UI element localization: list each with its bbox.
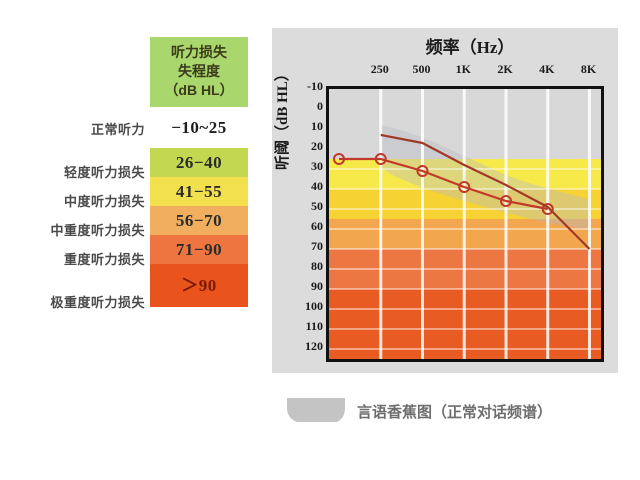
y-tick-100: 100 [305, 300, 323, 312]
infographic-root: 正常听力 轻度听力损失 中度听力损失 中重度听力损失 重度听力损失 极重度听力损… [0, 0, 640, 480]
header-line-3: （dB HL） [150, 81, 248, 100]
y-tick-20: 20 [311, 140, 323, 152]
plot-inner [329, 89, 601, 359]
y-tick-40: 40 [311, 180, 323, 192]
x-tick-2K: 2K [497, 62, 512, 77]
audiogram-curves [329, 89, 601, 359]
severity-label-column: 正常听力 轻度听力损失 中度听力损失 中重度听力损失 重度听力损失 极重度听力损… [0, 115, 145, 317]
y-tick-10: 10 [311, 120, 323, 132]
x-tick-4K: 4K [539, 62, 554, 77]
x-tick-500: 500 [412, 62, 430, 77]
chart-x-axis-title: 频率（Hz） [330, 33, 610, 58]
severity-range-normal: −10~25 [150, 107, 248, 148]
audiogram-plot [326, 86, 604, 362]
severity-range-mild: 26−40 [150, 148, 248, 177]
y-tick-80: 80 [311, 260, 323, 272]
chart-x-axis-ticks: 2505001K2K4K8K [325, 62, 605, 78]
y-tick-110: 110 [306, 320, 323, 332]
severity-label-normal: 正常听力 [0, 115, 145, 144]
severity-table-header: 听力损失 失程度 （dB HL） [150, 37, 248, 107]
severity-range-table: 听力损失 失程度 （dB HL） −10~25 26−40 41−55 56−7… [150, 37, 248, 307]
caption-text: 言语香蕉图（正常对话频谱） [357, 401, 552, 422]
caption: 言语香蕉图（正常对话频谱） [285, 396, 552, 426]
y-tick-90: 90 [311, 280, 323, 292]
y-tick-50: 50 [311, 200, 323, 212]
severity-label-moderately-severe: 中重度听力损失 [0, 216, 145, 245]
header-line-1: 听力损失 [150, 43, 248, 62]
y-tick--10: -10 [307, 80, 323, 92]
x-tick-250: 250 [371, 62, 389, 77]
y-tick-70: 70 [311, 240, 323, 252]
speech-banana-swatch-icon [285, 396, 347, 426]
severity-label-moderate: 中度听力损失 [0, 187, 145, 216]
y-tick-60: 60 [311, 220, 323, 232]
severity-range-moderately-severe: 56−70 [150, 206, 248, 235]
severity-range-severe: 71−90 [150, 235, 248, 264]
y-tick-30: 30 [311, 160, 323, 172]
chart-y-axis-ticks: -100102030405060708090100110120 [283, 84, 323, 354]
x-tick-1K: 1K [456, 62, 471, 77]
severity-range-moderate: 41−55 [150, 177, 248, 206]
x-tick-8K: 8K [581, 62, 596, 77]
y-tick-0: 0 [317, 100, 323, 112]
severity-label-severe: 重度听力损失 [0, 245, 145, 274]
header-line-2: 失程度 [150, 62, 248, 81]
y-tick-120: 120 [305, 340, 323, 352]
severity-label-profound: 极重度听力损失 [0, 288, 145, 317]
severity-label-mild: 轻度听力损失 [0, 158, 145, 187]
severity-range-profound: ＞90 [150, 264, 248, 307]
